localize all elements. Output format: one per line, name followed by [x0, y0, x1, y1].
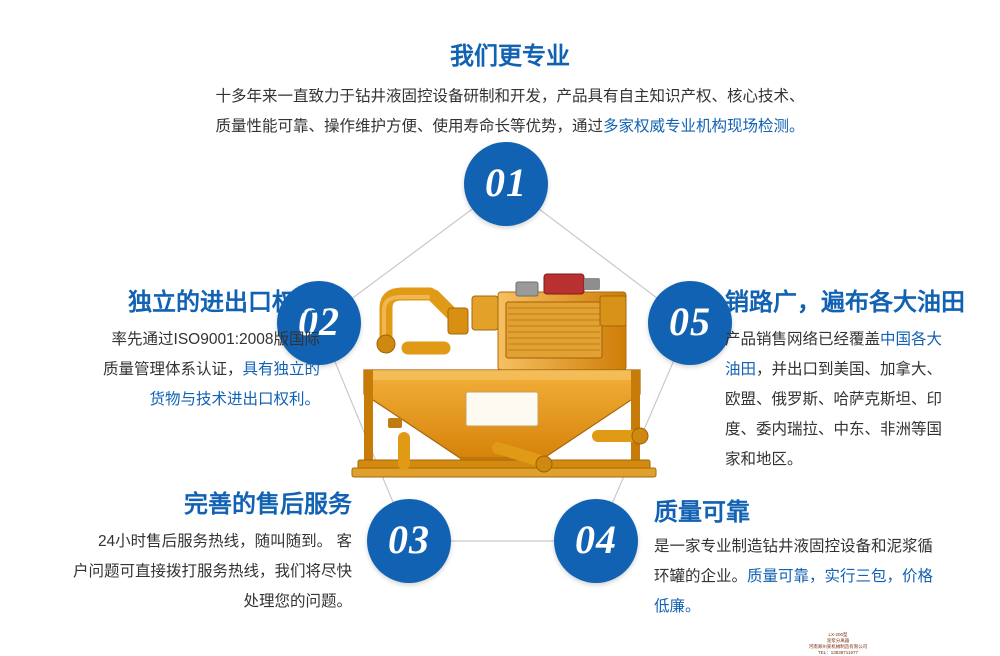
machine-placard: LX-200型 泥浆分离器 河南郑州某机械制造有限公司 TEL：13838711…: [798, 632, 878, 656]
section-01-line2a: 质量性能可靠、操作维护方便、使用寿命长等优势，通过: [215, 118, 603, 135]
section-04-line1a: 是一家专业制造钻井液固控设备和泥浆循: [654, 538, 933, 555]
section-01-line2b: 多家权威专业机构现场检测。: [603, 118, 805, 135]
section-05-line5: 家和地区。: [725, 451, 803, 468]
section-02-line1: 率先通过ISO9001:2008版国际: [112, 331, 320, 348]
section-05-line1b: 中国各大: [880, 331, 942, 348]
badge-01-number: 01: [485, 163, 527, 203]
section-04-title: 质量可靠: [654, 500, 988, 526]
section-03-text: 完善的售后服务 24小时售后服务热线，随叫随到。 客 户问题可直接拨打服务热线，…: [14, 492, 352, 617]
section-03-body: 24小时售后服务热线，随叫随到。 客 户问题可直接拨打服务热线，我们将尽快 处理…: [14, 527, 352, 617]
badge-05[interactable]: 05: [648, 281, 732, 365]
section-03-line1: 24小时售后服务热线，随叫随到。 客: [98, 533, 352, 550]
section-04-line2a: 环罐的企业。: [654, 568, 747, 585]
badge-04-number: 04: [575, 520, 617, 560]
section-01-title: 我们更专业: [160, 44, 860, 70]
section-05-line2a: ，并出口到美国、加拿大、: [756, 361, 942, 378]
section-02-line2b: 具有独立的: [242, 361, 320, 378]
section-01-body: 十多年来一直致力于钻井液固控设备研制和开发，产品具有自主知识产权、核心技术、 质…: [160, 82, 860, 142]
section-04-line3b: 低廉。: [654, 598, 701, 615]
badge-04[interactable]: 04: [554, 499, 638, 583]
section-02-line3: 货物与技术进出口权利。: [149, 391, 320, 408]
section-03-line2: 户问题可直接拨打服务热线，我们将尽快: [73, 563, 352, 580]
section-04-text: 质量可靠 是一家专业制造钻井液固控设备和泥浆循 环罐的企业。质量可靠，实行三包，…: [654, 500, 988, 622]
section-02-text: 独立的进出口权利 率先通过ISO9001:2008版国际 质量管理体系认证，具有…: [20, 290, 320, 415]
machine-illustration: LX-200型 泥浆分离器 河南郑州某机械制造有限公司 TEL：13838711…: [348, 252, 658, 484]
infographic-stage: LX-200型 泥浆分离器 河南郑州某机械制造有限公司 TEL：13838711…: [0, 0, 1000, 642]
section-02-line2a: 质量管理体系认证，: [103, 361, 243, 378]
section-05-line1a: 产品销售网络已经覆盖: [725, 331, 880, 348]
section-05-line3: 欧盟、俄罗斯、哈萨克斯坦、印: [725, 391, 942, 408]
section-01-line1: 十多年来一直致力于钻井液固控设备研制和开发，产品具有自主知识产权、核心技术、: [215, 88, 804, 105]
section-01-text: 我们更专业 十多年来一直致力于钻井液固控设备研制和开发，产品具有自主知识产权、核…: [160, 44, 860, 142]
section-03-title: 完善的售后服务: [14, 492, 352, 518]
section-05-line4: 度、委内瑞拉、中东、非洲等国: [725, 421, 942, 438]
section-02-body: 率先通过ISO9001:2008版国际 质量管理体系认证，具有独立的 货物与技术…: [20, 325, 320, 415]
section-03-line3: 处理您的问题。: [243, 593, 352, 610]
badge-03[interactable]: 03: [367, 499, 451, 583]
badge-05-number: 05: [669, 302, 711, 342]
section-04-line2b: 质量可靠，实行三包，价格: [747, 568, 933, 585]
badge-01[interactable]: 01: [464, 142, 548, 226]
badge-03-number: 03: [388, 520, 430, 560]
section-05-text: 销路广，遍布各大油田 产品销售网络已经覆盖中国各大 油田，并出口到美国、加拿大、…: [725, 290, 987, 475]
section-02-title: 独立的进出口权利: [20, 290, 320, 316]
section-05-line2b: 油田: [725, 361, 756, 378]
section-04-body: 是一家专业制造钻井液固控设备和泥浆循 环罐的企业。质量可靠，实行三包，价格 低廉…: [654, 532, 988, 622]
section-05-title: 销路广，遍布各大油田: [725, 290, 987, 316]
section-05-body: 产品销售网络已经覆盖中国各大 油田，并出口到美国、加拿大、 欧盟、俄罗斯、哈萨克…: [725, 325, 987, 475]
